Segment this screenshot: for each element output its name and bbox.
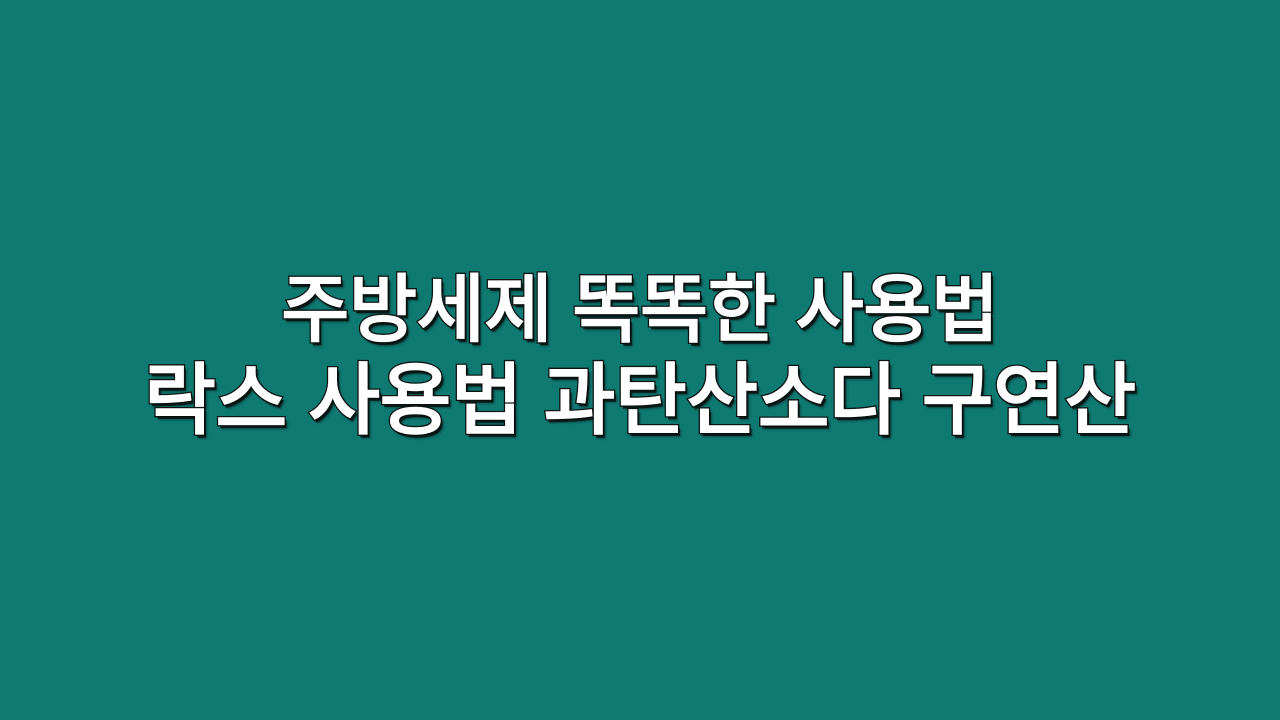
title-line-1: 주방세제 똑똑한 사용법	[281, 273, 998, 347]
title-card-canvas: 주방세제 똑똑한 사용법 락스 사용법 과탄산소다 구연산	[0, 0, 1280, 720]
title-text-block: 주방세제 똑똑한 사용법 락스 사용법 과탄산소다 구연산	[0, 273, 1280, 439]
title-line-2: 락스 사용법 과탄산소다 구연산	[144, 361, 1136, 439]
